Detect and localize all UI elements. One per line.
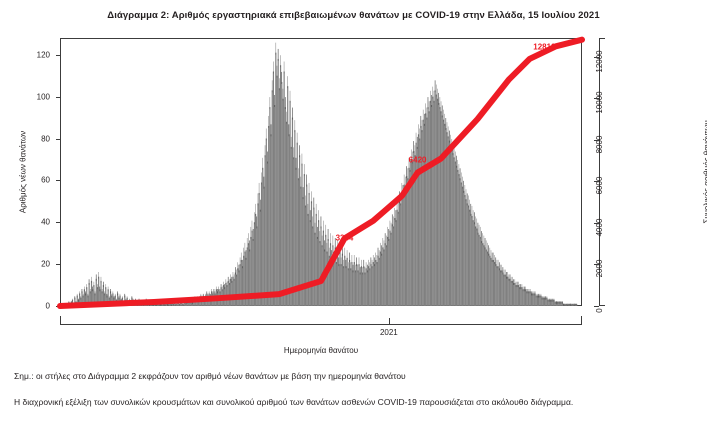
bar-cap: [366, 262, 367, 270]
bar-cap: [284, 62, 285, 74]
bar-cap: [290, 91, 291, 103]
bar-cap: [262, 158, 263, 170]
bar-cap: [242, 260, 243, 268]
bar-cap: [560, 301, 561, 304]
bar-cap: [344, 248, 345, 258]
bar: [317, 237, 318, 306]
bar-cap: [285, 97, 286, 109]
bar-cap: [283, 89, 284, 101]
bar: [454, 157, 455, 306]
bar: [263, 187, 264, 306]
bar: [461, 182, 462, 306]
bar-cap: [437, 89, 438, 101]
bar: [369, 268, 370, 306]
bar-cap: [486, 240, 487, 251]
bar: [288, 134, 289, 306]
bar-cap: [501, 265, 502, 273]
bar: [270, 134, 271, 306]
bar-cap: [273, 62, 274, 74]
right-axis: 020004000600080001000012000 Συνολικός αρ…: [582, 38, 707, 306]
bar-cap: [463, 181, 464, 193]
bar-cap: [313, 198, 314, 210]
bar-cap: [379, 250, 380, 260]
bar-cap: [507, 272, 508, 279]
bar-cap: [511, 277, 512, 283]
bar: [448, 136, 449, 306]
bar: [429, 111, 430, 306]
bar: [255, 214, 256, 306]
bar-cap: [491, 250, 492, 260]
bar: [295, 168, 296, 306]
left-tick-label: 120: [20, 50, 50, 59]
bar: [528, 291, 529, 306]
bar: [480, 237, 481, 306]
bar-cap: [306, 175, 307, 187]
bar: [345, 266, 346, 306]
bar: [402, 195, 403, 306]
bar: [464, 195, 465, 306]
bar-cap: [442, 105, 443, 117]
bar: [451, 149, 452, 306]
bar-cap: [447, 122, 448, 134]
bar-cap: [554, 299, 555, 302]
bar: [389, 231, 390, 306]
bar-cap: [504, 270, 505, 277]
bar: [426, 118, 427, 306]
bar-cap: [526, 289, 527, 293]
bar: [463, 191, 464, 306]
bar: [305, 206, 306, 307]
bar-cap: [346, 260, 347, 268]
bar: [364, 273, 365, 307]
bar-cap: [537, 294, 538, 298]
bar: [266, 139, 267, 307]
bar: [446, 132, 447, 306]
bar: [485, 247, 486, 306]
bar-cap: [429, 101, 430, 113]
bar: [432, 97, 433, 306]
bar: [374, 264, 375, 306]
bar: [437, 99, 438, 306]
bar-cap: [82, 289, 83, 293]
bar: [508, 279, 509, 306]
left-tick-label: 60: [20, 176, 50, 185]
bar-cap: [482, 233, 483, 245]
bar-cap: [394, 208, 395, 220]
bar: [499, 268, 500, 306]
bar-cap: [309, 183, 310, 195]
bar-cap: [455, 152, 456, 164]
bar: [349, 260, 350, 306]
bar: [372, 266, 373, 306]
bar-cap: [250, 227, 251, 239]
right-tick-label: 10000: [595, 92, 604, 114]
x-tick-label: 2021: [380, 328, 398, 337]
bar-cap: [424, 114, 425, 126]
bar-cap: [319, 231, 320, 243]
bar: [436, 95, 437, 306]
bar: [441, 111, 442, 306]
bar: [469, 210, 470, 306]
bar: [460, 178, 461, 306]
bar-cap: [84, 287, 85, 292]
bar: [287, 86, 288, 306]
bar-cap: [327, 243, 328, 254]
bar-cap: [102, 289, 103, 293]
bar-cap: [230, 274, 231, 280]
right-tick-mark: [594, 223, 599, 224]
bar: [362, 273, 363, 307]
bar-cap: [311, 191, 312, 203]
bar-cap: [325, 225, 326, 237]
bar-cap: [512, 277, 513, 283]
bar-cap: [373, 255, 374, 264]
bar-cap: [108, 287, 109, 292]
bar-cap: [354, 255, 355, 264]
bar-cap: [287, 76, 288, 88]
bar-cap: [233, 272, 234, 279]
bar-cap: [235, 267, 236, 274]
bar: [292, 118, 293, 306]
bar: [404, 185, 405, 306]
bar-cap: [529, 289, 530, 293]
bar: [525, 289, 526, 306]
bar: [285, 107, 286, 306]
bar-cap: [96, 274, 97, 280]
bar: [442, 115, 443, 306]
bar: [471, 216, 472, 306]
bar-cap: [456, 156, 457, 168]
bar: [293, 157, 294, 306]
bar-cap: [83, 294, 84, 298]
bar-cap: [494, 255, 495, 264]
bar-cap: [355, 265, 356, 273]
bar-cap: [487, 243, 488, 254]
bar-cap: [469, 200, 470, 212]
bar: [274, 105, 275, 306]
bar: [262, 168, 263, 306]
bar-cap: [343, 260, 344, 268]
bar-cap: [212, 291, 213, 295]
bar: [330, 243, 331, 306]
bar-cap: [254, 212, 255, 224]
bar-cap: [227, 282, 228, 287]
x-axis-line: [60, 324, 582, 325]
bar-cap: [132, 296, 133, 299]
bar-cap: [316, 204, 317, 216]
bar-cap: [497, 260, 498, 268]
bar-cap: [291, 137, 292, 149]
bar-cap: [365, 267, 366, 274]
bar-cap: [111, 294, 112, 298]
left-tick-label: 20: [20, 260, 50, 269]
bar-cap: [247, 238, 248, 249]
bar-cap: [538, 294, 539, 298]
bar: [313, 208, 314, 306]
bar-cap: [294, 120, 295, 132]
bar: [279, 88, 280, 306]
bar: [354, 262, 355, 306]
bar-cap: [460, 168, 461, 180]
bar: [431, 105, 432, 306]
bar-cap: [253, 229, 254, 241]
bar-cap: [347, 250, 348, 260]
bar-cap: [500, 265, 501, 273]
bar-cap: [473, 210, 474, 222]
bar-cap: [271, 124, 272, 136]
bar: [514, 283, 515, 306]
bar-cap: [127, 296, 128, 299]
bar: [358, 264, 359, 306]
bar-cap: [286, 112, 287, 124]
bar-cap: [89, 279, 90, 285]
bar: [383, 249, 384, 306]
bar-cap: [292, 108, 293, 120]
bar-cap: [225, 279, 226, 285]
bar-cap: [472, 206, 473, 218]
bar-cap: [118, 296, 119, 299]
bar-cap: [470, 204, 471, 216]
bar: [519, 287, 520, 306]
bar: [282, 99, 283, 306]
bar: [473, 220, 474, 306]
bar: [457, 170, 458, 306]
bar-cap: [398, 202, 399, 214]
bar-cap: [465, 185, 466, 197]
bar-cap: [478, 223, 479, 235]
bar: [494, 262, 495, 306]
bar-cap: [525, 287, 526, 292]
bar-cap: [275, 43, 276, 55]
bar-cap: [277, 66, 278, 78]
bar-cap: [503, 267, 504, 274]
bar: [423, 120, 424, 306]
bar: [269, 107, 270, 306]
bar-cap: [418, 124, 419, 136]
bar-cap: [299, 145, 300, 157]
bar-cap: [357, 265, 358, 273]
bar-cap: [555, 301, 556, 304]
bar: [467, 203, 468, 306]
left-tick-label: 100: [20, 92, 50, 101]
bar-cap: [362, 267, 363, 274]
bar-cap: [234, 274, 235, 280]
bar: [398, 212, 399, 306]
bar-cap: [91, 277, 92, 283]
left-axis: Αριθμός νέων θανάτων 020406080100120: [0, 38, 60, 306]
bar-cap: [103, 282, 104, 287]
bar-cap: [363, 260, 364, 268]
bar-cap: [436, 85, 437, 97]
bar: [373, 262, 374, 306]
bar: [527, 291, 528, 306]
bar: [376, 262, 377, 306]
bar: [487, 252, 488, 306]
plot-area: 3254642012819: [60, 38, 582, 306]
bar: [236, 275, 237, 306]
bar-cap: [550, 299, 551, 302]
bar: [388, 239, 389, 306]
bar-cap: [293, 147, 294, 159]
bar: [353, 270, 354, 306]
right-tick-mark: [594, 57, 599, 58]
bar-cap: [272, 80, 273, 92]
bar-cap: [86, 284, 87, 289]
bar: [452, 153, 453, 306]
bar-cap: [499, 262, 500, 270]
bar-cap: [417, 137, 418, 149]
bar-cap: [461, 172, 462, 184]
footnote-2: Η διαχρονική εξέλιξη των συνολικών κρουσ…: [14, 396, 686, 408]
bar-cap: [438, 93, 439, 105]
bar-cap: [265, 145, 266, 157]
bar-cap: [268, 116, 269, 128]
bar: [483, 245, 484, 306]
bar-cap: [558, 301, 559, 304]
bar: [496, 266, 497, 306]
bar: [477, 233, 478, 306]
bar: [366, 268, 367, 306]
bar-cap: [552, 299, 553, 302]
bar-cap: [475, 216, 476, 228]
right-tick-mark: [594, 264, 599, 265]
x-axis-title: Ημερομηνία θανάτου: [60, 346, 582, 355]
footnote-1: Σημ.: οι στήλες στο Διάγραμμα 2 εκφράζου…: [14, 370, 674, 382]
bar: [479, 235, 480, 306]
bar-cap: [209, 291, 210, 295]
bar: [513, 283, 514, 306]
bar-cap: [322, 236, 323, 248]
bar: [360, 273, 361, 307]
bar: [276, 76, 277, 306]
bar-cap: [281, 72, 282, 84]
bar-cap: [78, 299, 79, 302]
bar-cap: [516, 282, 517, 287]
bar: [506, 277, 507, 306]
bar-cap: [545, 296, 546, 299]
bar-cap: [445, 118, 446, 130]
right-tick-mark: [594, 306, 599, 307]
bar-cap: [493, 253, 494, 262]
bar-cap: [302, 154, 303, 166]
bar-cap: [222, 287, 223, 292]
bar-cap: [375, 253, 376, 262]
bar: [238, 270, 239, 306]
bar-cap: [269, 97, 270, 109]
left-tick-label: 0: [20, 302, 50, 311]
bar: [341, 264, 342, 306]
bar: [294, 130, 295, 306]
bar-cap: [522, 284, 523, 289]
bar: [385, 243, 386, 306]
bar: [326, 252, 327, 306]
bar-cap: [535, 291, 536, 295]
bar: [470, 214, 471, 306]
bar: [234, 279, 235, 306]
bar-cap: [448, 126, 449, 138]
bar-cap: [274, 95, 275, 107]
bar-cap: [543, 296, 544, 299]
bar: [299, 155, 300, 306]
bar: [435, 90, 436, 306]
bar: [272, 90, 273, 306]
bar-cap: [380, 243, 381, 254]
bar: [367, 270, 368, 306]
bar: [381, 254, 382, 306]
bar: [400, 203, 401, 306]
bar: [259, 193, 260, 306]
bar-cap: [385, 233, 386, 245]
bar-cap: [98, 272, 99, 279]
bar-cap: [492, 253, 493, 262]
line-value-label: 6420: [409, 155, 427, 164]
bar-cap: [542, 296, 543, 299]
bar-cap: [484, 236, 485, 248]
bar-cap: [352, 255, 353, 264]
bar-cap: [425, 103, 426, 115]
bar-cap: [430, 91, 431, 103]
bar-cap: [278, 49, 279, 61]
bar-cap: [508, 274, 509, 280]
bar-cap: [305, 196, 306, 208]
bar: [333, 260, 334, 306]
bar-cap: [223, 282, 224, 287]
bar-cap: [431, 95, 432, 107]
bar: [382, 247, 383, 306]
bar: [380, 252, 381, 306]
bar: [502, 273, 503, 307]
bar-cap: [359, 257, 360, 266]
bar-cap: [423, 110, 424, 122]
bar: [505, 275, 506, 306]
bar: [476, 229, 477, 306]
bar-cap: [393, 216, 394, 228]
right-tick-mark: [594, 140, 599, 141]
bar-cap: [382, 238, 383, 249]
bar: [493, 260, 494, 306]
bar-cap: [513, 279, 514, 285]
bar: [392, 224, 393, 306]
bar: [438, 103, 439, 306]
bar: [524, 289, 525, 306]
bar-cap: [122, 296, 123, 299]
bar-cap: [248, 233, 249, 245]
bar: [368, 266, 369, 306]
bar: [462, 187, 463, 306]
bar-cap: [94, 282, 95, 287]
bar-cap: [548, 299, 549, 302]
bar: [507, 277, 508, 306]
bar-cap: [85, 291, 86, 295]
bar: [427, 107, 428, 306]
bar-cap: [298, 168, 299, 180]
bar-cap: [421, 116, 422, 128]
bar: [356, 264, 357, 306]
bar-cap: [505, 270, 506, 277]
bar-cap: [113, 291, 114, 295]
bar-cap: [260, 200, 261, 212]
bar: [489, 256, 490, 306]
left-tick-label: 80: [20, 134, 50, 143]
bar-cap: [264, 177, 265, 189]
bar-cap: [547, 296, 548, 299]
right-tick-label: 4000: [595, 218, 604, 236]
bar-cap: [517, 282, 518, 287]
bar-cap: [77, 294, 78, 298]
bar-cap: [333, 236, 334, 248]
bar: [456, 166, 457, 306]
bar-cap: [524, 287, 525, 292]
